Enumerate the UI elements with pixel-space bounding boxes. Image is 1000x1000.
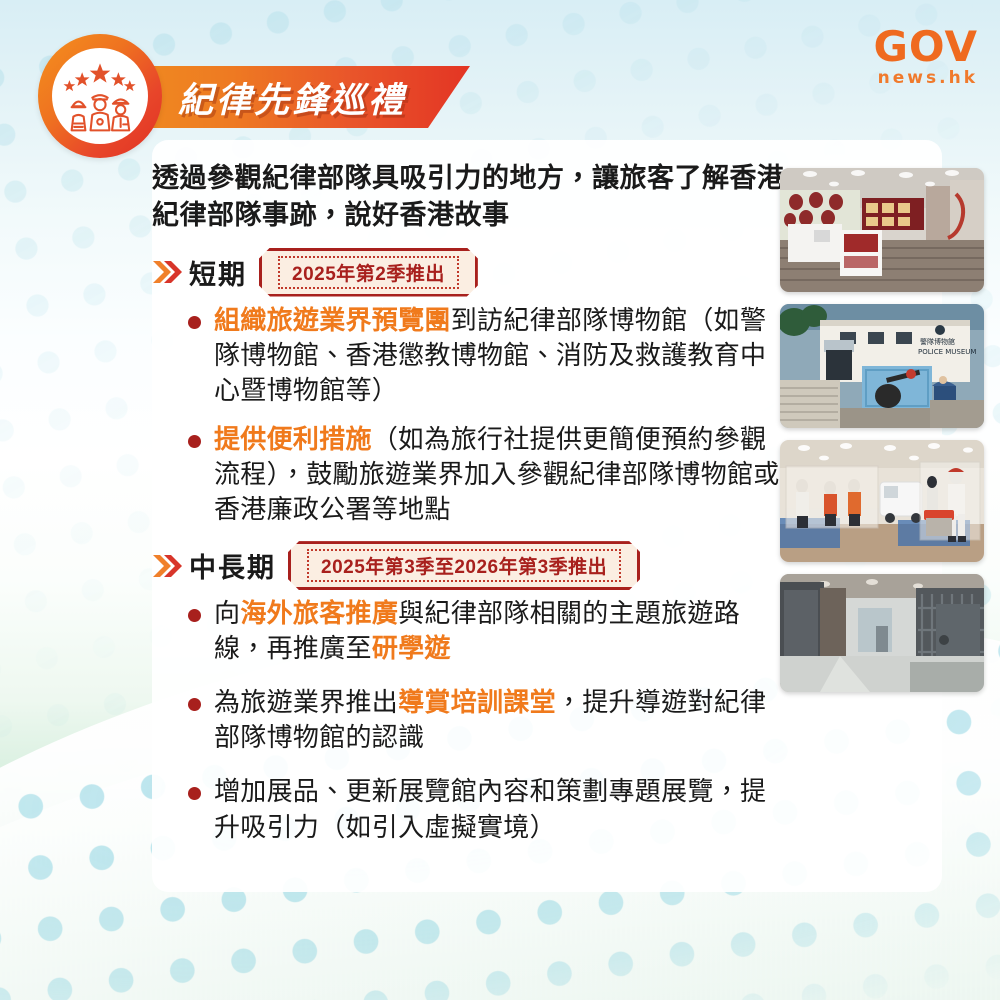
bullet-dot-icon: [188, 316, 201, 329]
svg-text:警隊博物館: 警隊博物館: [920, 337, 955, 346]
highlighted-phrase: 研學遊: [372, 633, 451, 663]
timeline-badge: 2025年第3季至2026年第3季推出: [288, 541, 640, 590]
timeline-badge-frame: 2025年第3季至2026年第3季推出: [307, 549, 621, 582]
bullet-list-0: 組織旅遊業界預覽團到訪紀律部隊博物館（如警隊博物館、香港懲教博物館、消防及救護教…: [152, 303, 792, 528]
photo-museum-lobby: [780, 168, 984, 292]
photo-strip: 警隊博物館 POLICE MUSEUM: [780, 168, 992, 704]
timeline-badge-text: 2025年第2季推出: [292, 259, 445, 286]
govnews-logo-gov: GOV: [873, 26, 978, 68]
plain-phrase: 向: [214, 598, 240, 628]
sections-container: 短期2025年第2季推出組織旅遊業界預覽團到訪紀律部隊博物館（如警隊博物館、香港…: [152, 248, 792, 845]
highlighted-phrase: 海外旅客推廣: [240, 598, 398, 628]
page-title: 紀律先鋒巡禮: [178, 72, 406, 123]
bullet-dot-icon: [188, 698, 201, 711]
photo-corridor-cells: [780, 574, 984, 692]
bullet-list-1: 向海外旅客推廣與紀律部隊相關的主題旅遊路線，再推廣至研學遊為旅遊業界推出導賞培訓…: [152, 596, 792, 845]
section-label: 中長期: [189, 546, 276, 585]
govnews-logo: GOV news.hk: [873, 26, 978, 87]
timeline-badge-frame: 2025年第2季推出: [278, 256, 459, 289]
highlighted-phrase: 組織旅遊業界預覽團: [214, 305, 451, 335]
list-item-text: 向海外旅客推廣與紀律部隊相關的主題旅遊路線，再推廣至研學遊: [214, 596, 792, 666]
plain-phrase: 增加展品、更新展覽館內容和策劃專題展覽，提升吸引力（如引入虛擬實境）: [214, 776, 766, 841]
list-item: 增加展品、更新展覽館內容和策劃專題展覽，提升吸引力（如引入虛擬實境）: [188, 774, 792, 844]
bullet-dot-icon: [188, 787, 201, 800]
list-item-text: 提供便利措施（如為旅行社提供更簡便預約參觀流程），鼓勵旅遊業界加入參觀紀律部隊博…: [214, 422, 792, 527]
plain-phrase: 為旅遊業界推出: [214, 687, 398, 717]
chevron-right-icon: [152, 553, 182, 579]
photo-uniform-exhibit: [780, 440, 984, 562]
emblem-inner-disc: [52, 48, 148, 144]
list-item: 向海外旅客推廣與紀律部隊相關的主題旅遊路線，再推廣至研學遊: [188, 596, 792, 666]
timeline-badge-text: 2025年第3季至2026年第3季推出: [321, 552, 607, 579]
section-label: 短期: [189, 253, 247, 292]
photo-police-museum-exterior: 警隊博物館 POLICE MUSEUM: [780, 304, 984, 428]
highlighted-phrase: 提供便利措施: [214, 424, 372, 454]
section-header-0: 短期2025年第2季推出: [152, 248, 792, 297]
list-item: 組織旅遊業界預覽團到訪紀律部隊博物館（如警隊博物館、香港懲教博物館、消防及救護教…: [188, 303, 792, 408]
list-item: 為旅遊業界推出導賞培訓課堂，提升導遊對紀律部隊博物館的認識: [188, 685, 792, 755]
list-item-text: 組織旅遊業界預覽團到訪紀律部隊博物館（如警隊博物館、香港懲教博物館、消防及救護教…: [214, 303, 792, 408]
section-header-1: 中長期2025年第3季至2026年第3季推出: [152, 541, 792, 590]
infographic-canvas: 紀律先鋒巡禮: [0, 0, 1000, 1000]
title-banner: 紀律先鋒巡禮: [120, 66, 470, 128]
intro-text: 透過參觀紀律部隊具吸引力的地方，讓旅客了解香港紀律部隊事跡，說好香港故事: [152, 160, 792, 235]
main-content: 透過參觀紀律部隊具吸引力的地方，讓旅客了解香港紀律部隊事跡，說好香港故事 短期2…: [152, 160, 792, 864]
highlighted-phrase: 導賞培訓課堂: [398, 687, 556, 717]
chevron-right-icon: [152, 259, 182, 285]
bullet-dot-icon: [188, 609, 201, 622]
discipline-officers-emblem: [38, 34, 162, 158]
list-item: 提供便利措施（如為旅行社提供更簡便預約參觀流程），鼓勵旅遊業界加入參觀紀律部隊博…: [188, 422, 792, 527]
list-item-text: 為旅遊業界推出導賞培訓課堂，提升導遊對紀律部隊博物館的認識: [214, 685, 792, 755]
timeline-badge: 2025年第2季推出: [259, 248, 478, 297]
govnews-logo-news: news.hk: [873, 70, 978, 87]
bullet-dot-icon: [188, 435, 201, 448]
list-item-text: 增加展品、更新展覽館內容和策劃專題展覽，提升吸引力（如引入虛擬實境）: [214, 774, 792, 844]
svg-text:POLICE MUSEUM: POLICE MUSEUM: [918, 348, 976, 356]
